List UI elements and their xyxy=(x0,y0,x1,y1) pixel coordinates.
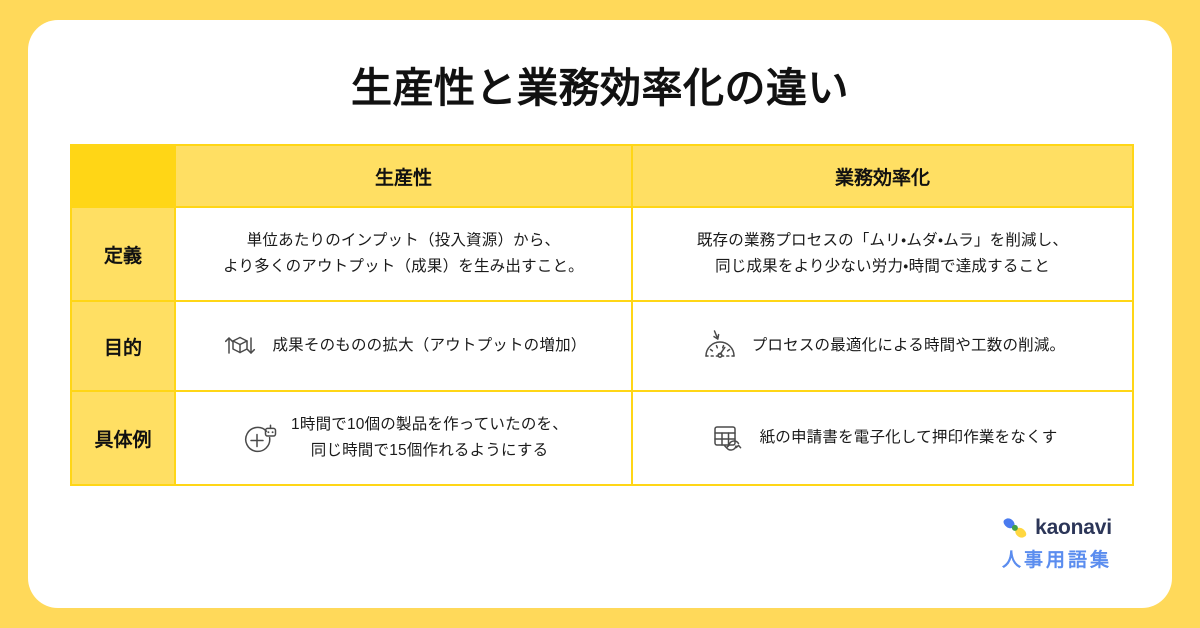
table-refresh-icon xyxy=(708,418,748,458)
table-header-row: 生産性 業務効率化 xyxy=(71,145,1133,207)
cell-definition-productivity: 単位あたりのインプット（投入資源）から、 より多くのアウトプット（成果）を生み出… xyxy=(175,207,632,301)
kaonavi-logo: kaonavi 人事用語集 xyxy=(982,516,1132,572)
table-row: 具体例 xyxy=(71,391,1133,485)
page-title: 生産性と業務効率化の違い xyxy=(28,64,1172,113)
comparison-table: 生産性 業務効率化 定義 単位あたりのインプット（投入資源）から、 より多くのア… xyxy=(70,144,1134,486)
cell-text: 紙の申請書を電子化して押印作業をなくす xyxy=(760,425,1058,451)
comparison-table-wrapper: 生産性 業務効率化 定義 単位あたりのインプット（投入資源）から、 より多くのア… xyxy=(70,144,1132,486)
cell-text: プロセスの最適化による時間や工数の削減。 xyxy=(752,333,1066,359)
logo-subtitle: 人事用語集 xyxy=(982,545,1132,572)
table-header-productivity: 生産性 xyxy=(175,145,632,207)
gauge-down-arrow-icon xyxy=(700,326,740,366)
content-card: 生産性と業務効率化の違い 生産性 業務効率化 定義 xyxy=(28,20,1172,608)
add-robot-icon xyxy=(239,418,279,458)
cell-example-efficiency: 紙の申請書を電子化して押印作業をなくす xyxy=(632,391,1133,485)
table-row: 定義 単位あたりのインプット（投入資源）から、 より多くのアウトプット（成果）を… xyxy=(71,207,1133,301)
cell-purpose-productivity: 成果そのものの拡大（アウトプットの増加） xyxy=(175,301,632,391)
cell-example-productivity: 1時間で10個の製品を作っていたのを、 同じ時間で15個作れるようにする xyxy=(175,391,632,485)
table-body: 定義 単位あたりのインプット（投入資源）から、 より多くのアウトプット（成果）を… xyxy=(71,207,1133,485)
row-label-purpose: 目的 xyxy=(71,301,175,391)
cell-text: 1時間で10個の製品を作っていたのを、 同じ時間で15個作れるようにする xyxy=(291,412,568,463)
row-label-example: 具体例 xyxy=(71,391,175,485)
row-label-definition: 定義 xyxy=(71,207,175,301)
poster-page: 生産性と業務効率化の違い 生産性 業務効率化 定義 xyxy=(0,0,1200,628)
table-row: 目的 xyxy=(71,301,1133,391)
logo-wordmark: kaonavi xyxy=(1035,516,1112,540)
cell-definition-efficiency: 既存の業務プロセスの「ムリ・ムダ・ムラ」を削減し、 同じ成果をより少ない労力・時… xyxy=(632,207,1133,301)
cell-text: 単位あたりのインプット（投入資源）から、 より多くのアウトプット（成果）を生み出… xyxy=(223,228,584,279)
cell-text: 既存の業務プロセスの「ムリ・ムダ・ムラ」を削減し、 同じ成果をより少ない労力・時… xyxy=(697,228,1068,279)
logo-top-row: kaonavi xyxy=(982,516,1132,540)
cell-purpose-efficiency: プロセスの最適化による時間や工数の削減。 xyxy=(632,301,1133,391)
table-corner-cell xyxy=(71,145,175,207)
kaonavi-logo-mark-icon xyxy=(1002,517,1028,539)
table-head: 生産性 業務効率化 xyxy=(71,145,1133,207)
table-header-efficiency: 業務効率化 xyxy=(632,145,1133,207)
box-arrows-up-down-icon xyxy=(220,326,260,366)
cell-text: 成果そのものの拡大（アウトプットの増加） xyxy=(272,333,586,359)
